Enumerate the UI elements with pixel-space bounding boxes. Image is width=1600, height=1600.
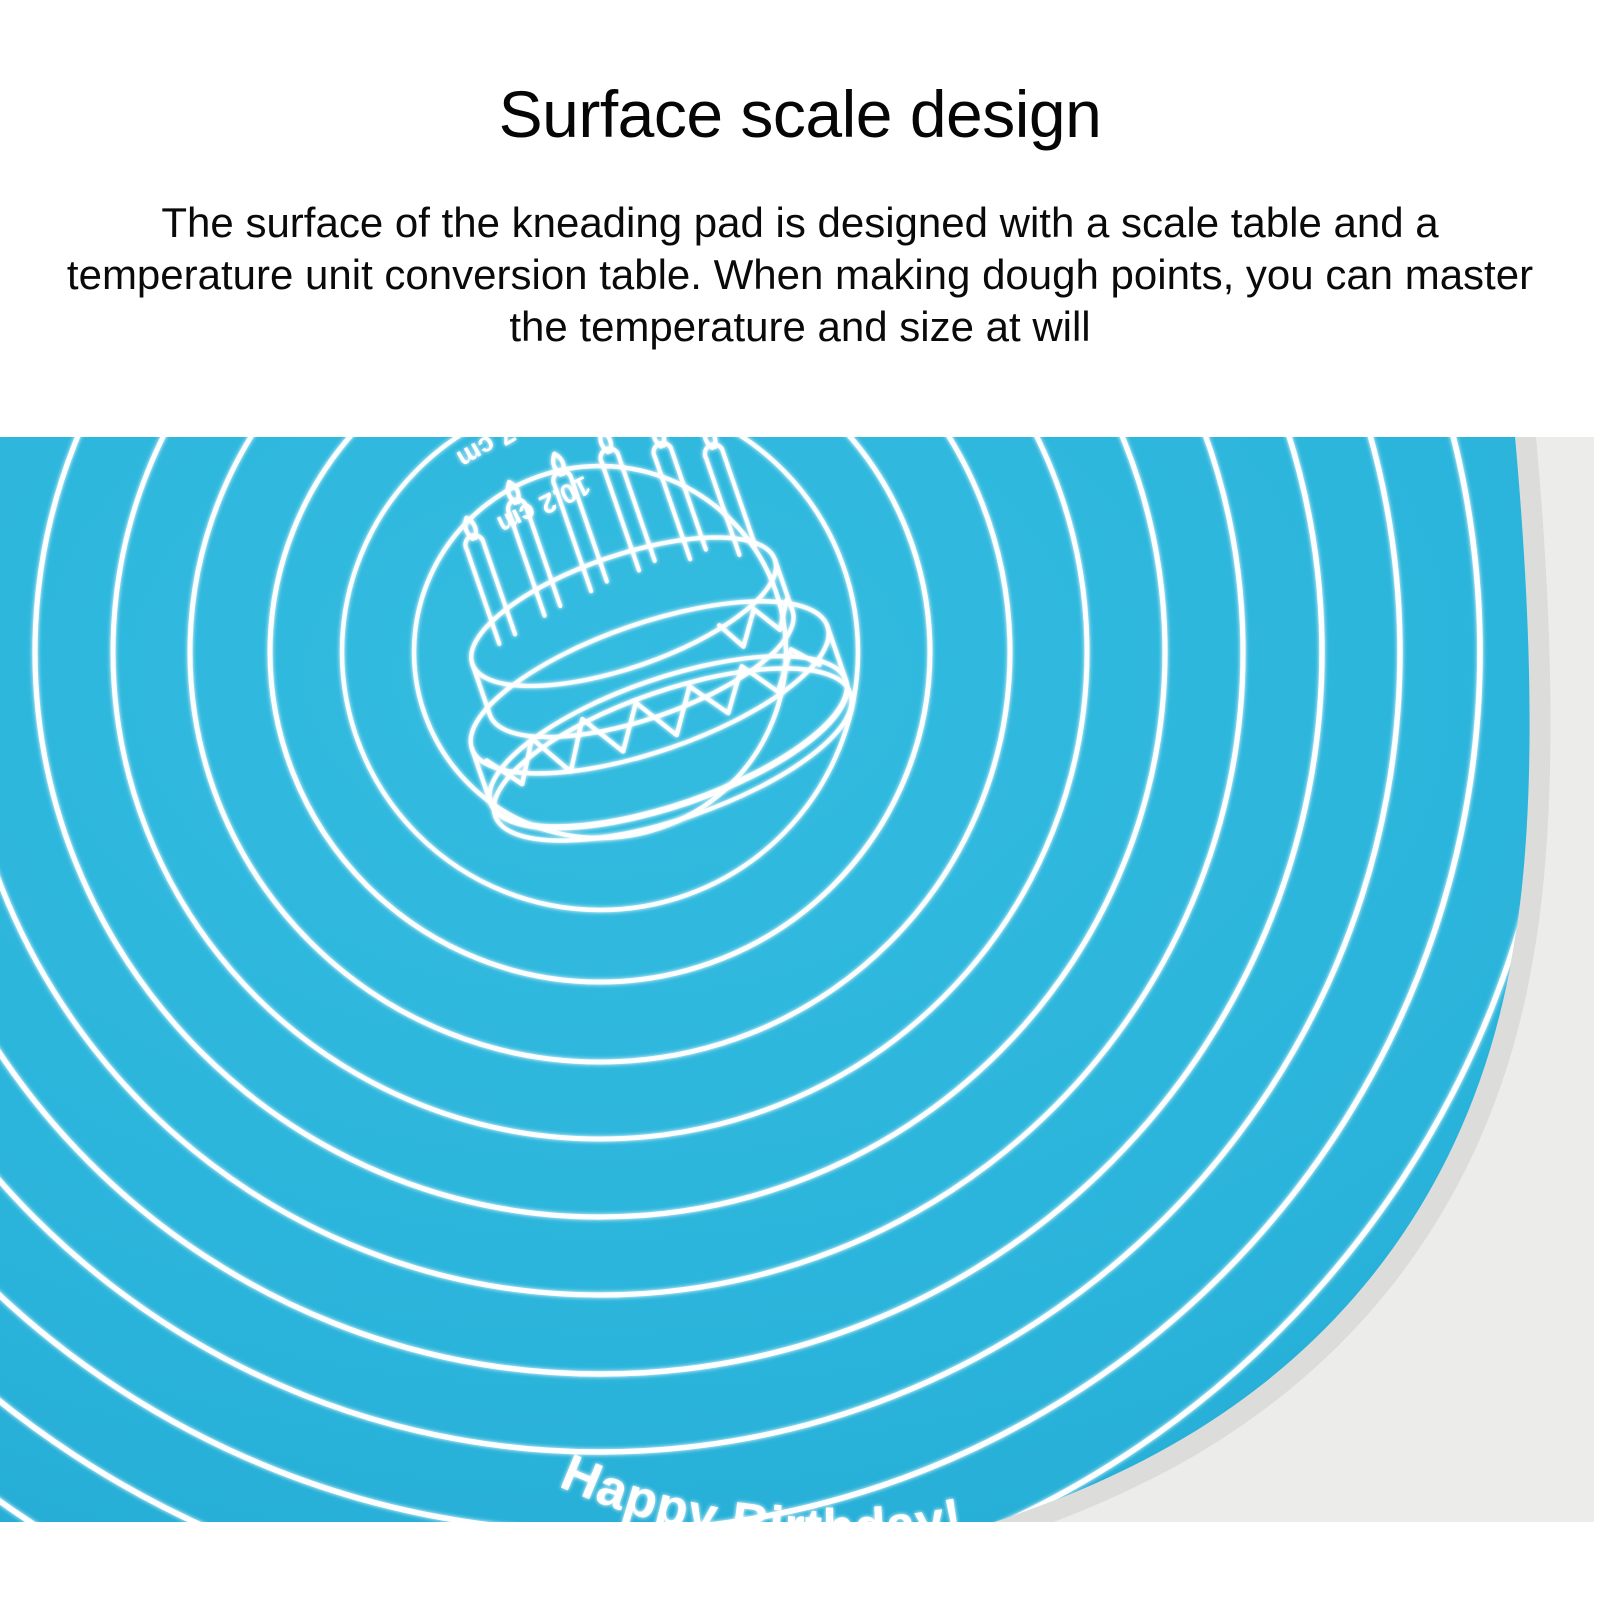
product-detail-page: Surface scale design The surface of the … xyxy=(0,0,1600,1600)
page-description: The surface of the kneading pad is desig… xyxy=(55,197,1545,353)
footer-whitespace xyxy=(0,1522,1600,1600)
photo-right-margin xyxy=(1594,437,1600,1522)
page-title: Surface scale design xyxy=(0,74,1600,154)
header-section: Surface scale design The surface of the … xyxy=(0,0,1600,437)
kneading-pad-illustration: Happy Birthday! 4" 5" 6" 7" 8 xyxy=(0,437,1600,1522)
product-photo: Happy Birthday! 4" 5" 6" 7" 8 xyxy=(0,437,1600,1522)
